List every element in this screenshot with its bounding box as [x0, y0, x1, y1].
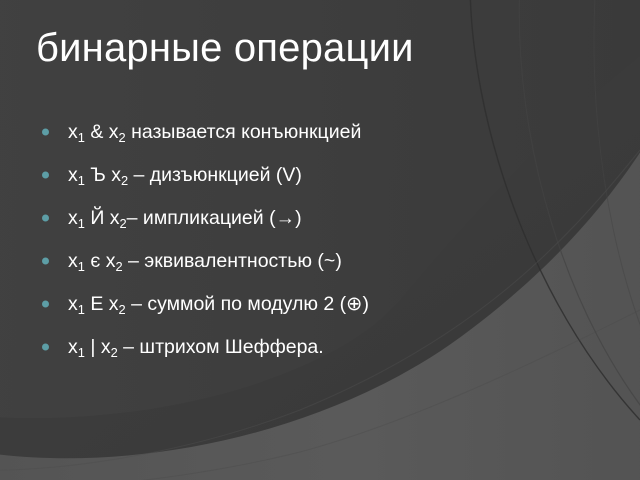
- list-item-label: x1 Ъ x2 – дизъюнкцией (V): [68, 163, 302, 187]
- list-item: x1 є x2 – эквивалентностью (~): [36, 239, 616, 282]
- list-item: x1 Ъ x2 – дизъюнкцией (V): [36, 153, 616, 196]
- bullet-dot-icon: [42, 171, 49, 178]
- list-item-label: x1 & x2 называется конъюнкцией: [68, 120, 361, 144]
- slide-title: бинарные операции: [36, 24, 596, 72]
- list-item: x1 & x2 называется конъюнкцией: [36, 110, 616, 153]
- bullet-dot-icon: [42, 257, 49, 264]
- bullet-dot-icon: [42, 343, 49, 350]
- list-item-label: x1 | x2 – штрихом Шеффера.: [68, 335, 324, 359]
- bullet-dot-icon: [42, 214, 49, 221]
- list-item: x1 Е x2 – суммой по модулю 2 (⊕): [36, 282, 616, 325]
- list-item: x1 Й x2– импликацией (→): [36, 196, 616, 239]
- list-item-label: x1 є x2 – эквивалентностью (~): [68, 249, 342, 273]
- list-item-label: x1 Е x2 – суммой по модулю 2 (⊕): [68, 292, 369, 316]
- list-item-label: x1 Й x2– импликацией (→): [68, 206, 302, 230]
- list-item: x1 | x2 – штрихом Шеффера.: [36, 325, 616, 368]
- presentation-slide: бинарные операции x1 & x2 называется кон…: [0, 0, 640, 480]
- bullet-list: x1 & x2 называется конъюнкцией x1 Ъ x2 –…: [36, 110, 616, 368]
- bullet-dot-icon: [42, 300, 49, 307]
- bullet-dot-icon: [42, 128, 49, 135]
